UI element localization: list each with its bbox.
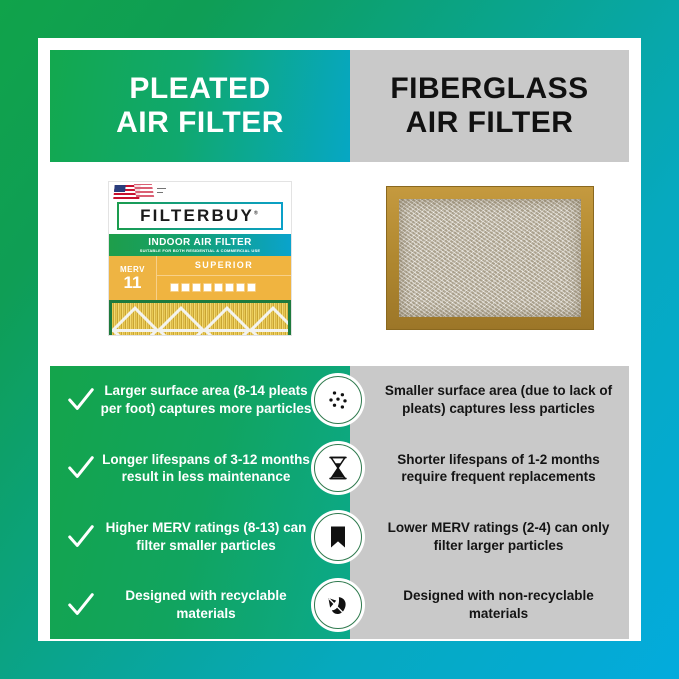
hourglass-icon bbox=[324, 454, 352, 482]
pleated-filter-diamond-1 bbox=[112, 306, 159, 336]
feature-text-pleated: Higher MERV ratings (8-13) can filter sm… bbox=[98, 519, 340, 555]
comparison-infographic: PLEATED AIR FILTER FIBERGLASS AIR FILTER bbox=[0, 0, 679, 679]
particles-badge bbox=[314, 376, 362, 424]
feature-row-fiberglass: Designed with non-recyclable materials bbox=[350, 571, 629, 639]
features-pleated-list: Larger surface area (8-14 pleats per foo… bbox=[50, 366, 350, 639]
pleated-filter-merv-badge: MERV 11 bbox=[109, 256, 157, 300]
leaf-icon bbox=[324, 591, 352, 619]
header-fiberglass: FIBERGLASS AIR FILTER bbox=[350, 50, 629, 162]
spacer-icon-1 bbox=[258, 283, 267, 292]
features-fiberglass-list: Smaller surface area (due to lack of ple… bbox=[350, 366, 629, 639]
pleated-filter-pleats bbox=[112, 303, 288, 336]
product-cell-pleated: ▬▬▬▬▬ FILTERBUY® INDOOR AIR FILTER SUITA… bbox=[50, 162, 350, 354]
fiberglass-filter-image bbox=[386, 186, 594, 330]
header-pleated: PLEATED AIR FILTER bbox=[50, 50, 350, 162]
features-fiberglass-column: Smaller surface area (due to lack of ple… bbox=[350, 366, 629, 639]
spacer-icon-2 bbox=[269, 283, 278, 292]
check-icon bbox=[64, 383, 98, 417]
header-fiberglass-title: FIBERGLASS AIR FILTER bbox=[390, 72, 588, 139]
pleated-filter-banner-line2: SUITABLE FOR BOTH RESIDENTIAL & COMMERCI… bbox=[140, 248, 261, 253]
header-fiberglass-line1: FIBERGLASS bbox=[390, 72, 588, 105]
pleated-filter-spec-row: MERV 11 SUPERIOR bbox=[109, 256, 291, 300]
merv-value: 11 bbox=[124, 274, 142, 291]
feature-text-fiberglass: Lower MERV ratings (2-4) can only filter… bbox=[384, 519, 613, 555]
pleated-filter-benefit-icons bbox=[157, 276, 291, 300]
leaf-badge bbox=[314, 581, 362, 629]
mold-icon bbox=[214, 283, 223, 292]
dust-icon bbox=[181, 283, 190, 292]
feature-row-pleated: Larger surface area (8-14 pleats per foo… bbox=[50, 366, 350, 434]
pet-dander-icon bbox=[203, 283, 212, 292]
pleated-filter-banner: INDOOR AIR FILTER SUITABLE FOR BOTH RESI… bbox=[109, 234, 291, 256]
product-image-row: ▬▬▬▬▬ FILTERBUY® INDOOR AIR FILTER SUITA… bbox=[50, 162, 629, 354]
header-pleated-title: PLEATED AIR FILTER bbox=[116, 72, 284, 139]
header-row: PLEATED AIR FILTER FIBERGLASS AIR FILTER bbox=[50, 50, 629, 162]
pollen-icon bbox=[192, 283, 201, 292]
pleated-filter-brandbox: FILTERBUY® bbox=[117, 202, 283, 230]
feature-row-pleated: Longer lifespans of 3-12 months result i… bbox=[50, 434, 350, 502]
pleated-filter-banner-line1: INDOOR AIR FILTER bbox=[148, 237, 251, 248]
feature-text-fiberglass: Designed with non-recyclable materials bbox=[384, 587, 613, 623]
pleated-filter-fineprint: ▬▬▬▬▬ bbox=[157, 186, 166, 195]
feature-text-pleated: Designed with recyclable materials bbox=[98, 587, 340, 623]
features-pleated-column: Larger surface area (8-14 pleats per foo… bbox=[50, 366, 350, 639]
usa-flag-secondary-icon bbox=[134, 184, 154, 197]
pleated-filter-brand: FILTERBUY® bbox=[140, 206, 260, 226]
check-icon bbox=[64, 520, 98, 554]
feature-text-pleated: Larger surface area (8-14 pleats per foo… bbox=[98, 382, 340, 418]
pleated-filter-diamond-3 bbox=[203, 306, 251, 336]
feature-row-pleated: Designed with recyclable materials bbox=[50, 571, 350, 639]
header-pleated-line2: AIR FILTER bbox=[116, 106, 284, 139]
feature-row-fiberglass: Lower MERV ratings (2-4) can only filter… bbox=[350, 503, 629, 571]
pleated-filter-grade-block: SUPERIOR bbox=[157, 256, 291, 300]
smoke-icon bbox=[236, 283, 245, 292]
feature-row-fiberglass: Smaller surface area (due to lack of ple… bbox=[350, 366, 629, 434]
pleated-filter-brand-text: FILTERBUY bbox=[140, 206, 254, 225]
feature-text-pleated: Longer lifespans of 3-12 months result i… bbox=[98, 451, 340, 487]
check-icon bbox=[64, 588, 98, 622]
registered-mark-icon: ® bbox=[254, 210, 260, 216]
lint-icon bbox=[247, 283, 256, 292]
fiberglass-mesh bbox=[399, 199, 581, 317]
pleated-filter-diamond-2 bbox=[157, 306, 205, 336]
check-icon bbox=[64, 451, 98, 485]
feature-row-pleated: Higher MERV ratings (8-13) can filter sm… bbox=[50, 503, 350, 571]
allergen-icon bbox=[170, 283, 179, 292]
feature-text-fiberglass: Shorter lifespans of 1-2 months require … bbox=[384, 451, 613, 487]
feature-text-fiberglass: Smaller surface area (due to lack of ple… bbox=[384, 382, 613, 418]
header-fiberglass-line2: AIR FILTER bbox=[406, 106, 574, 139]
feature-row-fiberglass: Shorter lifespans of 1-2 months require … bbox=[350, 434, 629, 502]
bacteria-icon bbox=[225, 283, 234, 292]
pleated-filter-media: FILTERBUY bbox=[109, 300, 291, 336]
bookmark-badge bbox=[314, 513, 362, 561]
pleated-filter-grade: SUPERIOR bbox=[157, 256, 291, 276]
pleated-filter-image: ▬▬▬▬▬ FILTERBUY® INDOOR AIR FILTER SUITA… bbox=[108, 181, 292, 336]
header-pleated-line1: PLEATED bbox=[129, 72, 270, 105]
infographic-card: PLEATED AIR FILTER FIBERGLASS AIR FILTER bbox=[38, 38, 641, 641]
bookmark-icon bbox=[324, 523, 352, 551]
pleated-filter-diamond-4 bbox=[249, 306, 288, 336]
particles-icon bbox=[324, 386, 352, 414]
features-row: Larger surface area (8-14 pleats per foo… bbox=[50, 366, 629, 639]
pleated-filter-flagbar: ▬▬▬▬▬ bbox=[109, 182, 291, 202]
product-cell-fiberglass bbox=[350, 162, 629, 354]
